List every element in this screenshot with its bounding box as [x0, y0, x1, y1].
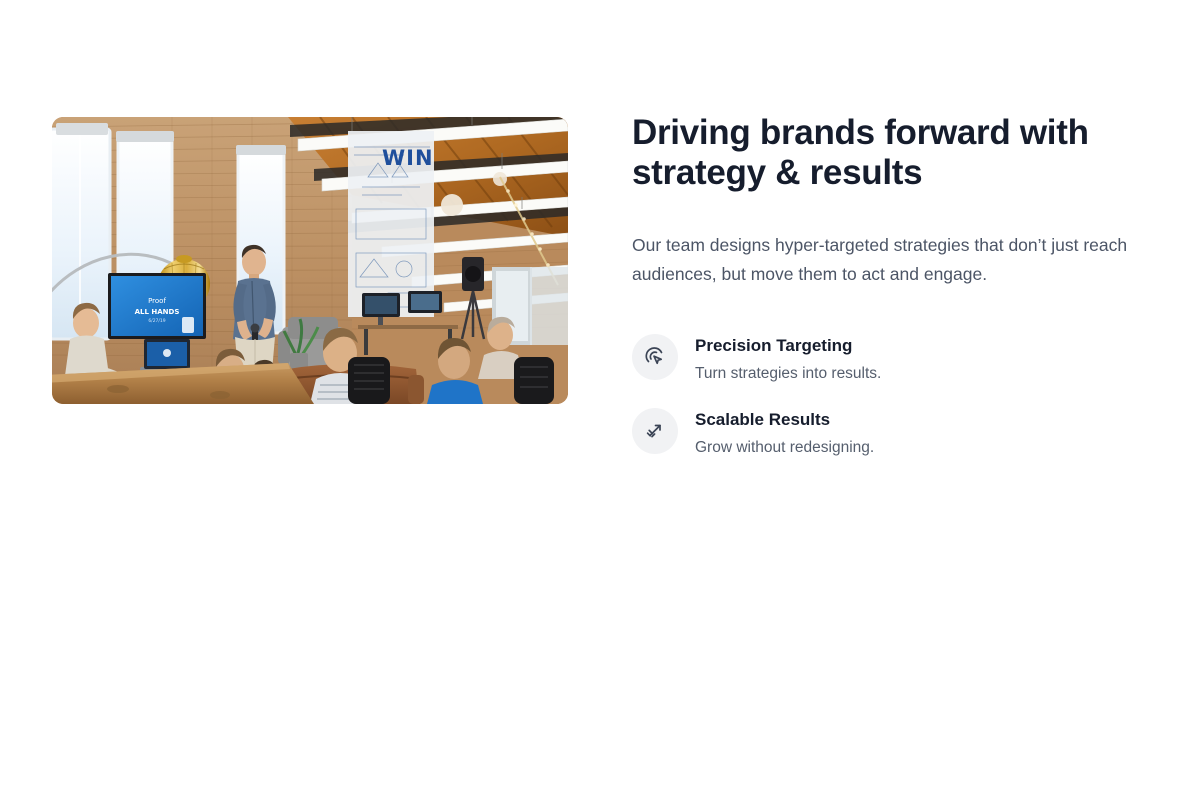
expand-arrow-icon [632, 408, 678, 454]
feature-section: WIN P [0, 0, 1200, 800]
page-title: Driving brands forward with strategy & r… [632, 113, 1152, 193]
copy-column: Driving brands forward with strategy & r… [632, 113, 1152, 458]
feature-title: Scalable Results [695, 409, 874, 431]
feature-list: Precision Targeting Turn strategies into… [632, 332, 1152, 458]
svg-text:Proof: Proof [148, 297, 166, 305]
feature-description: Turn strategies into results. [695, 364, 881, 384]
feature-description: Grow without redesigning. [695, 438, 874, 458]
feature-text-block: Precision Targeting Turn strategies into… [695, 332, 881, 384]
svg-text:ALL HANDS: ALL HANDS [135, 308, 180, 316]
feature-item-scalable-results: Scalable Results Grow without redesignin… [632, 406, 1152, 458]
feature-text-block: Scalable Results Grow without redesignin… [695, 406, 874, 458]
feature-item-precision-targeting: Precision Targeting Turn strategies into… [632, 332, 1152, 384]
cursor-click-icon [632, 334, 678, 380]
media-column: WIN P [52, 117, 568, 404]
svg-text:WIN: WIN [382, 146, 434, 170]
section-description: Our team designs hyper-targeted strategi… [632, 231, 1147, 289]
svg-text:6/27/19: 6/27/19 [148, 318, 165, 324]
feature-title: Precision Targeting [695, 335, 881, 357]
office-meeting-photo: WIN P [52, 117, 568, 404]
photo-illustration: WIN P [52, 117, 568, 404]
